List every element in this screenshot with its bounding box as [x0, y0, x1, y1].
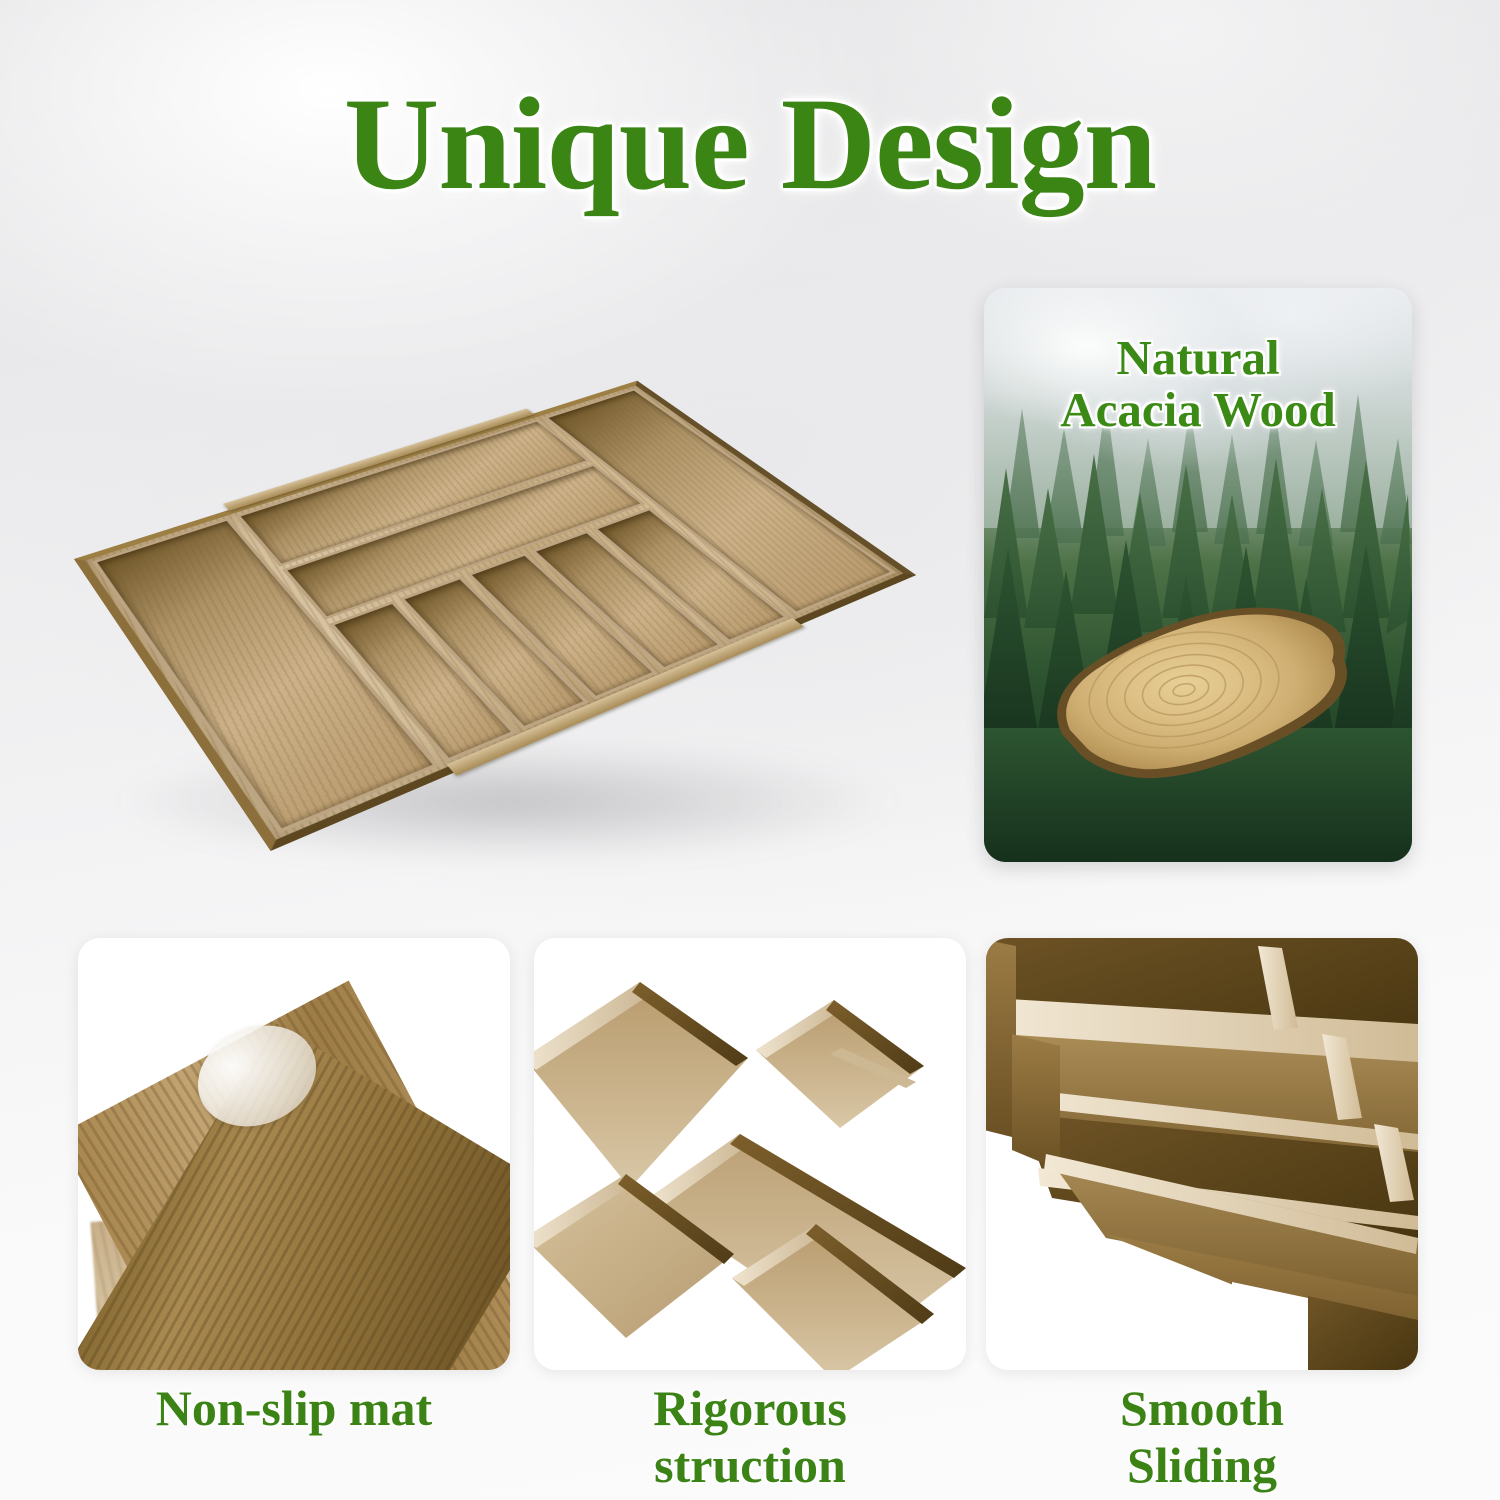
- feature-caption-row: Non-slip mat Rigorous struction Smooth S…: [0, 1380, 1500, 1500]
- caption-smooth-sliding: Smooth Sliding: [986, 1380, 1418, 1494]
- feature-tile-row: [0, 938, 1500, 1370]
- feature-tile-rigorous-struction: [534, 938, 966, 1370]
- caption-rigorous-struction: Rigorous struction: [534, 1380, 966, 1494]
- sliding-rail-photo: [986, 938, 1418, 1370]
- non-slip-mat-photo: [78, 938, 510, 1370]
- caption-rigorous-line-1: Rigorous: [653, 1380, 847, 1436]
- infographic-canvas: Unique Design: [0, 0, 1500, 1500]
- acacia-title-line-2: Acacia Wood: [1060, 382, 1335, 437]
- acacia-wood-panel: Natural Acacia Wood: [984, 288, 1412, 862]
- caption-smooth-line-2: Sliding: [1127, 1437, 1277, 1493]
- drawer-organizer-illustration: [52, 272, 962, 872]
- caption-rigorous-line-2: struction: [654, 1437, 846, 1493]
- organizer-tray: [74, 381, 917, 852]
- feature-tile-non-slip-mat: [78, 938, 510, 1370]
- caption-non-slip-mat-text: Non-slip mat: [156, 1380, 432, 1436]
- feature-tile-smooth-sliding: [986, 938, 1418, 1370]
- hero-product-image: [52, 272, 962, 872]
- acacia-panel-title: Natural Acacia Wood: [984, 332, 1412, 437]
- page-title: Unique Design: [0, 78, 1500, 210]
- caption-non-slip-mat: Non-slip mat: [78, 1380, 510, 1437]
- wood-cross-section-slab: [1044, 584, 1356, 800]
- acacia-title-line-1: Natural: [1116, 330, 1279, 385]
- caption-smooth-line-1: Smooth: [1120, 1380, 1284, 1436]
- compartment-joinery-photo: [534, 938, 966, 1370]
